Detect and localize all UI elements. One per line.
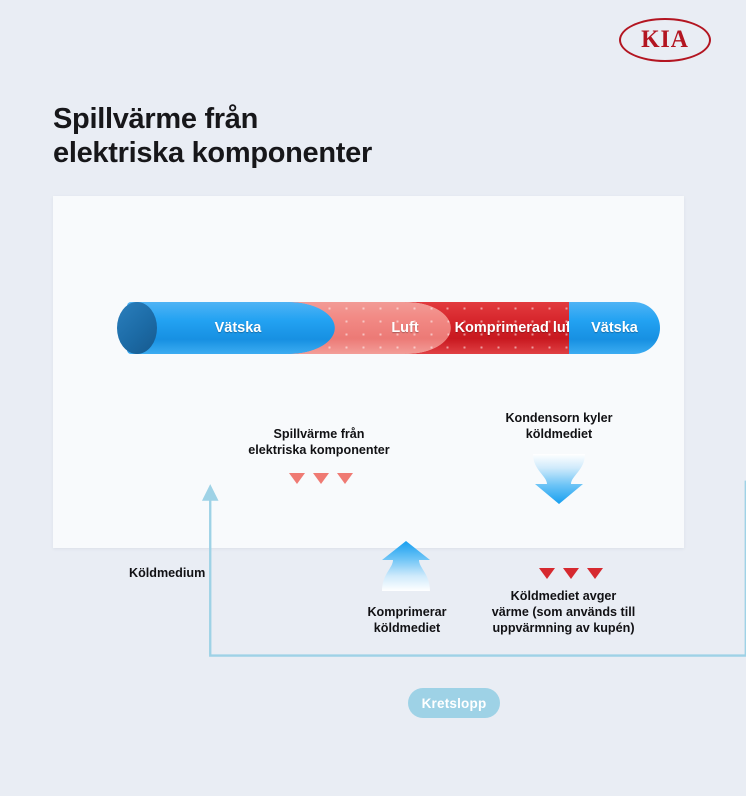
compressor-up-arrow-icon <box>381 541 431 591</box>
page-title: Spillvärme från elektriska komponenter <box>53 103 613 171</box>
down-triangle-icon <box>563 568 579 579</box>
kretslopp-badge: Kretslopp <box>408 688 500 718</box>
refrigerant-circuit-loop <box>53 196 746 796</box>
callout-condenser-label: Kondensorn kyler köldmediet <box>474 410 644 442</box>
callout-heat-release-label: Köldmediet avger värme (som används till… <box>471 588 656 636</box>
tube-end-cap-icon <box>117 302 157 354</box>
down-triangle-icon <box>313 473 329 484</box>
diagram-panel: Vätska Luft Komprimerad luft Vätska Spil… <box>53 196 684 548</box>
condenser-down-arrow-icon <box>531 454 587 504</box>
kia-logo-wordmark: KIA <box>621 18 708 62</box>
kretslopp-label: Kretslopp <box>422 696 487 711</box>
down-triangle-icon <box>539 568 555 579</box>
down-triangle-icon <box>337 473 353 484</box>
kia-logo: KIA <box>619 18 711 62</box>
callout-compressor-label: Komprimerar köldmediet <box>336 604 478 636</box>
tube-segment-liquid-right-label: Vätska <box>569 302 660 354</box>
refrigerant-label: Köldmedium <box>129 566 205 580</box>
heat-release-triangles-icon <box>539 568 603 579</box>
down-triangle-icon <box>587 568 603 579</box>
waste-heat-triangles-icon <box>289 473 353 484</box>
refrigerant-tube: Vätska Luft Komprimerad luft Vätska <box>117 302 660 354</box>
tube-segment-liquid-right: Vätska <box>569 302 660 354</box>
down-triangle-icon <box>289 473 305 484</box>
callout-waste-heat-label: Spillvärme från elektriska komponenter <box>225 426 413 458</box>
